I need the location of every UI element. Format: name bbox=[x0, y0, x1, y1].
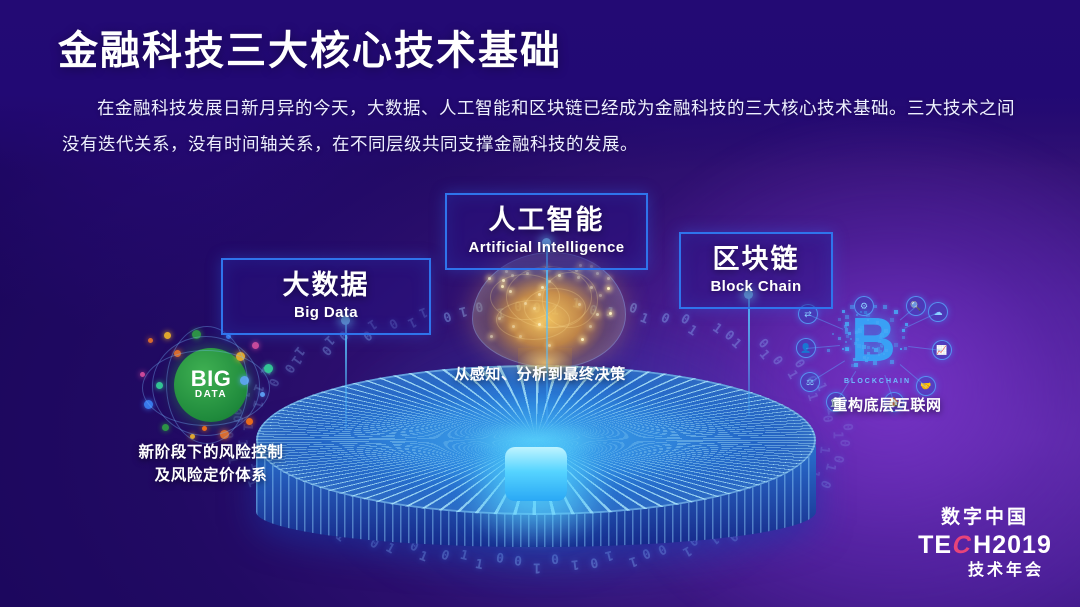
brain-neuron-spark bbox=[577, 276, 580, 279]
blockchain-pixel bbox=[900, 348, 902, 350]
blockchain-pixel bbox=[878, 340, 881, 343]
label-card-blockchain-cn: 区块链 bbox=[699, 242, 813, 276]
event-logo-line1: 数字中国 bbox=[905, 506, 1065, 530]
blockchain-pixel bbox=[874, 348, 878, 352]
blockchain-node-icon: ⚙ bbox=[854, 296, 874, 316]
blockchain-pixel bbox=[894, 343, 898, 347]
event-logo-line3: 技术年会 bbox=[905, 560, 1065, 582]
caption-big-data: 新阶段下的风险控制 及风险定价体系 bbox=[96, 441, 326, 487]
blockchain-pixel bbox=[902, 336, 905, 339]
big-data-node-dot bbox=[148, 338, 153, 343]
blockchain-pixel bbox=[850, 305, 854, 309]
brain-neuron-spark bbox=[581, 338, 584, 341]
caption-big-data-line2: 及风险定价体系 bbox=[96, 464, 326, 487]
brain-neuron-spark bbox=[548, 280, 551, 283]
blockchain-icon: B BLOCKCHAIN ⇄⚖🏦☁📈🤝🏠👤⚙🔍 bbox=[796, 296, 952, 404]
platform-disc bbox=[256, 365, 816, 565]
blockchain-pixel bbox=[867, 319, 869, 321]
label-card-blockchain-en: Block Chain bbox=[699, 277, 813, 297]
big-data-icon: BIG DATA bbox=[140, 330, 272, 442]
blockchain-pixel bbox=[873, 361, 877, 365]
blockchain-pixel bbox=[879, 336, 882, 339]
event-logo-tech-suffix: H2019 bbox=[973, 530, 1052, 560]
connector-line-blockchain bbox=[748, 294, 750, 416]
brain-neuron-spark bbox=[512, 325, 515, 328]
blockchain-pixel bbox=[838, 318, 841, 321]
blockchain-pixel bbox=[880, 344, 883, 347]
big-data-orbit-ring bbox=[166, 326, 248, 444]
brain-neuron-spark bbox=[578, 303, 581, 306]
event-logo-tech-prefix: TE bbox=[918, 530, 952, 560]
blockchain-pixel bbox=[865, 359, 868, 362]
blockchain-pixel bbox=[845, 315, 849, 319]
brain-neuron-spark bbox=[526, 272, 529, 275]
intro-paragraph: 在金融科技发展日新月异的今天，大数据、人工智能和区块链已经成为金融科技的三大核心… bbox=[62, 90, 1022, 162]
brain-neuron-spark bbox=[607, 277, 610, 280]
caption-big-data-line1: 新阶段下的风险控制 bbox=[96, 441, 326, 464]
label-card-big-data-en: Big Data bbox=[241, 303, 411, 323]
label-card-big-data-cn: 大数据 bbox=[241, 268, 411, 302]
big-data-node-dot bbox=[164, 332, 171, 339]
big-data-node-dot bbox=[246, 418, 253, 425]
blockchain-pixel bbox=[856, 338, 859, 341]
blockchain-pixel bbox=[862, 345, 866, 349]
blockchain-pixel bbox=[885, 349, 888, 352]
blockchain-pixel bbox=[890, 360, 894, 364]
blockchain-pixel bbox=[850, 338, 852, 340]
blockchain-pixel bbox=[853, 358, 856, 361]
brain-neuron-spark bbox=[599, 294, 602, 297]
brain-neuron-spark bbox=[596, 272, 599, 275]
brain-neuron-spark bbox=[607, 287, 610, 290]
connector-line-big-data bbox=[345, 320, 347, 430]
caption-ai: 从感知、分析到最终决策 bbox=[428, 363, 652, 384]
blockchain-pixel bbox=[867, 352, 870, 355]
blockchain-pixel bbox=[827, 349, 830, 352]
blockchain-pixel bbox=[854, 363, 858, 367]
blockchain-pixel bbox=[863, 356, 866, 359]
blockchain-pixel bbox=[884, 329, 888, 333]
blockchain-pixel bbox=[846, 335, 849, 338]
blockchain-link-line bbox=[810, 360, 846, 383]
disc-core-light bbox=[505, 447, 567, 501]
blockchain-pixel bbox=[874, 305, 877, 308]
blockchain-pixel bbox=[838, 337, 841, 340]
blockchain-pixel bbox=[902, 329, 905, 332]
page-title: 金融科技三大核心技术基础 bbox=[58, 18, 562, 76]
brain-neuron-spark bbox=[538, 293, 541, 296]
big-data-node-dot bbox=[162, 424, 169, 431]
blockchain-pixel bbox=[846, 348, 849, 351]
brain-neuron-spark bbox=[589, 325, 592, 328]
big-data-node-dot bbox=[252, 342, 259, 349]
brain-neuron-spark bbox=[502, 279, 505, 282]
brain-neuron-spark bbox=[511, 274, 514, 277]
blockchain-pixel bbox=[883, 305, 887, 309]
label-card-ai-cn: 人工智能 bbox=[465, 203, 628, 237]
brain-neuron-spark bbox=[548, 344, 551, 347]
caption-blockchain: 重构底层互联网 bbox=[792, 394, 982, 415]
brain-neuron-spark bbox=[519, 335, 522, 338]
blockchain-pixel bbox=[845, 322, 849, 326]
blockchain-wordmark: BLOCKCHAIN bbox=[844, 378, 911, 385]
event-logo-tech2019: TE C H2019 bbox=[905, 530, 1065, 560]
blockchain-pixel bbox=[867, 357, 869, 359]
label-card-ai-en: Artificial Intelligence bbox=[465, 238, 628, 258]
slide-canvas: 金融科技三大核心技术基础 在金融科技发展日新月异的今天，大数据、人工智能和区块链… bbox=[0, 0, 1080, 607]
brain-neuron-spark bbox=[538, 323, 541, 326]
event-logo: 数字中国 TE C H2019 技术年会 bbox=[905, 506, 1065, 596]
blockchain-pixel bbox=[894, 310, 898, 314]
blockchain-pixel bbox=[842, 348, 844, 350]
big-data-node-dot bbox=[264, 364, 273, 373]
blockchain-pixel bbox=[867, 346, 870, 349]
blockchain-pixel bbox=[842, 310, 845, 313]
blockchain-pixel bbox=[876, 321, 879, 324]
blockchain-pixel bbox=[857, 344, 861, 348]
blockchain-pixel bbox=[883, 353, 885, 355]
label-card-ai[interactable]: 人工智能 Artificial Intelligence bbox=[445, 193, 648, 270]
blockchain-pixel bbox=[832, 333, 834, 335]
brain-neuron-spark bbox=[558, 274, 561, 277]
blockchain-pixel bbox=[890, 318, 894, 322]
blockchain-pixel bbox=[845, 341, 847, 343]
brain-neuron-spark bbox=[509, 290, 512, 293]
blockchain-pixel bbox=[858, 329, 862, 333]
label-card-blockchain[interactable]: 区块链 Block Chain bbox=[679, 232, 833, 309]
brain-neuron-spark bbox=[533, 307, 536, 310]
blockchain-pixel bbox=[848, 332, 851, 335]
label-card-big-data[interactable]: 大数据 Big Data bbox=[221, 258, 431, 335]
blockchain-pixel bbox=[878, 354, 880, 356]
blockchain-pixel bbox=[904, 347, 907, 350]
event-logo-c-mark: C bbox=[950, 530, 975, 560]
